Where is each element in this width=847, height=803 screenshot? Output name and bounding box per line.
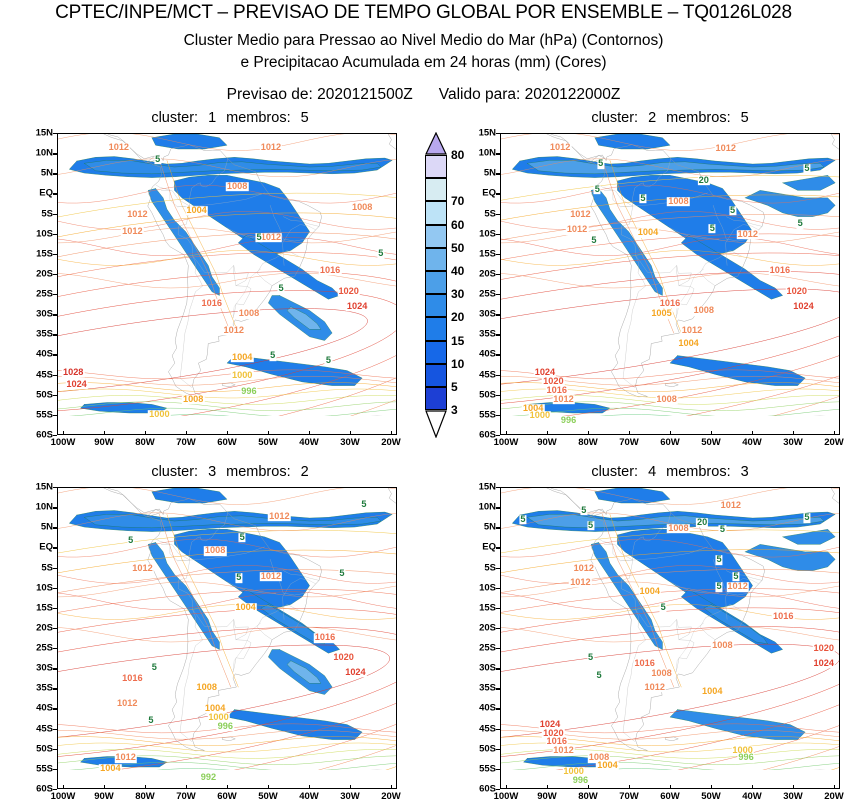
- x-axis-tick-label: 70W: [176, 791, 196, 802]
- y-axis-tick: [53, 274, 57, 275]
- subtitle-line-2: e Precipitacao Acumulada em 24 horas (mm…: [0, 54, 847, 72]
- contour-label: 1004: [677, 339, 699, 349]
- y-axis-tick: [496, 487, 500, 488]
- contour-label: 5: [127, 536, 134, 546]
- x-axis-tick-label: 80W: [135, 791, 155, 802]
- colorbar-tick-label: 50: [451, 241, 464, 255]
- y-axis-tick: [496, 769, 500, 770]
- cluster-label: cluster:: [151, 464, 198, 480]
- y-axis-tick-label: 55S: [464, 763, 496, 774]
- y-axis-tick: [53, 729, 57, 730]
- contour-label: 1000: [529, 411, 551, 421]
- colorbar-segment[interactable]: [425, 317, 447, 340]
- y-axis-tick: [53, 769, 57, 770]
- contour-label: 1008: [693, 306, 715, 316]
- y-axis-tick-label: EQ: [21, 542, 53, 553]
- y-axis-tick: [496, 153, 500, 154]
- y-axis-tick: [496, 729, 500, 730]
- x-axis-tick-label: 30W: [340, 437, 360, 448]
- contour-label: 1020: [813, 644, 835, 654]
- contour-label: 1012: [644, 683, 666, 693]
- contour-label: 1004: [234, 603, 256, 613]
- contour-label: 5: [595, 671, 602, 681]
- contour-label: 1008: [711, 641, 733, 651]
- y-axis-tick: [496, 395, 500, 396]
- contour-label: 5: [709, 224, 716, 234]
- colorbar-segment[interactable]: [425, 225, 447, 248]
- contour-label: 1012: [260, 572, 282, 582]
- y-axis-tick: [496, 334, 500, 335]
- contour-label: 5: [587, 521, 594, 531]
- y-axis-tick-label: 5S: [21, 208, 53, 219]
- contour-label: 1012: [573, 564, 595, 574]
- x-axis-tick-label: 40W: [742, 437, 762, 448]
- contour-label: 5: [147, 716, 154, 726]
- x-axis-tick-label: 70W: [176, 437, 196, 448]
- x-axis-tick-label: 80W: [578, 437, 598, 448]
- map-panel-cluster-2[interactable]: 1012101220100810121012101210041016102010…: [500, 133, 840, 435]
- colorbar-tick-label: 40: [451, 264, 464, 278]
- x-axis-tick-label: 20W: [824, 791, 844, 802]
- contour-label: 1012: [223, 326, 245, 336]
- contour-label: 1012: [569, 578, 591, 588]
- y-axis-tick-label: 60S: [21, 430, 53, 441]
- x-axis-tick: [268, 431, 269, 435]
- y-axis-tick-label: 50S: [464, 743, 496, 754]
- y-axis-tick-label: 35S: [21, 329, 53, 340]
- colorbar-over-arrow: [425, 132, 447, 155]
- contour-label: 1012: [108, 143, 130, 153]
- y-axis-tick: [496, 415, 500, 416]
- y-axis-tick: [496, 588, 500, 589]
- cluster-value: 4: [648, 464, 656, 480]
- colorbar-segment[interactable]: [425, 201, 447, 224]
- contour-label: 1012: [569, 210, 591, 220]
- cluster-label: cluster:: [151, 110, 198, 126]
- contour-label: 1016: [201, 299, 223, 309]
- x-axis-tick-label: 30W: [783, 437, 803, 448]
- x-axis-tick-label: 60W: [660, 791, 680, 802]
- y-axis-tick-label: 35S: [21, 683, 53, 694]
- x-axis-tick: [104, 785, 105, 789]
- y-axis-tick-label: 10N: [464, 502, 496, 513]
- colorbar-tick-label: 10: [451, 357, 464, 371]
- contour-label: 5: [597, 159, 604, 169]
- y-axis-tick-label: 45S: [21, 723, 53, 734]
- contour-label: 5: [151, 663, 158, 673]
- x-axis-tick-label: 20W: [381, 791, 401, 802]
- y-axis-tick: [496, 688, 500, 689]
- y-axis-tick: [496, 648, 500, 649]
- y-axis-tick: [53, 395, 57, 396]
- y-axis-tick: [53, 527, 57, 528]
- contour-label: 5: [154, 155, 161, 165]
- x-axis-tick: [309, 785, 310, 789]
- x-axis-tick-label: 50W: [258, 791, 278, 802]
- x-axis-tick-label: 50W: [701, 791, 721, 802]
- contour-label: 1024: [346, 302, 368, 312]
- y-axis-tick: [496, 133, 500, 134]
- x-axis-tick: [268, 785, 269, 789]
- x-axis-tick-label: 70W: [619, 791, 639, 802]
- y-axis-tick: [496, 274, 500, 275]
- contour-label: 1024: [792, 302, 814, 312]
- y-axis-tick-label: 5N: [464, 522, 496, 533]
- x-axis-tick-label: 60W: [217, 437, 237, 448]
- y-axis-tick-label: 10S: [21, 582, 53, 593]
- colorbar-under-arrow: [425, 410, 447, 438]
- contour-label: 996: [572, 776, 589, 786]
- contour-label: 1024: [813, 659, 835, 669]
- contour-label: 5: [587, 653, 594, 663]
- colorbar-tick-label: 60: [451, 218, 464, 232]
- contour-label: 996: [217, 722, 234, 732]
- x-axis-tick: [104, 431, 105, 435]
- contour-label: 5: [732, 572, 739, 582]
- contour-label: 1024: [65, 380, 87, 390]
- y-axis-tick: [496, 568, 500, 569]
- x-axis-tick: [670, 785, 671, 789]
- x-axis-tick: [227, 431, 228, 435]
- x-axis-tick-label: 20W: [381, 437, 401, 448]
- contour-label: 5: [660, 603, 667, 613]
- x-axis-tick: [506, 431, 507, 435]
- contour-label: 1008: [667, 197, 689, 207]
- contour-label: 1008: [650, 669, 672, 679]
- contour-label: 1008: [667, 524, 689, 534]
- contour-label: 996: [240, 387, 257, 397]
- precipitation-colorbar[interactable]: 35101520304050607080: [425, 132, 485, 440]
- panel-4-title: cluster:4membros:3: [500, 464, 840, 480]
- x-axis-tick: [711, 785, 712, 789]
- x-axis-tick-label: 100W: [494, 791, 519, 802]
- y-axis-tick: [496, 354, 500, 355]
- y-axis-tick-label: 5N: [21, 522, 53, 533]
- x-axis-tick: [834, 785, 835, 789]
- contour-label: 5: [278, 284, 285, 294]
- x-axis-tick: [391, 431, 392, 435]
- contour-label: 1012: [549, 143, 571, 153]
- y-axis-tick: [53, 547, 57, 548]
- y-axis-tick-label: 20S: [21, 622, 53, 633]
- x-axis-tick-label: 40W: [742, 791, 762, 802]
- x-axis-tick: [834, 431, 835, 435]
- x-axis-tick-label: 100W: [51, 437, 76, 448]
- colorbar-segment[interactable]: [425, 341, 447, 364]
- x-axis-tick: [145, 785, 146, 789]
- colorbar-tick-label: 70: [451, 194, 464, 208]
- y-axis-tick-label: 55S: [21, 409, 53, 420]
- contour-label: 1016: [659, 299, 681, 309]
- x-axis-tick-label: 70W: [619, 437, 639, 448]
- x-axis-tick: [309, 431, 310, 435]
- contour-label: 996: [560, 416, 577, 426]
- y-axis-tick-label: 10N: [21, 502, 53, 513]
- x-axis-tick-label: 40W: [299, 791, 319, 802]
- y-axis-tick-label: 40S: [21, 349, 53, 360]
- y-axis-tick-label: 25S: [464, 643, 496, 654]
- colorbar-segment[interactable]: [425, 294, 447, 317]
- x-axis-tick: [793, 785, 794, 789]
- y-axis-tick: [496, 547, 500, 548]
- y-axis-tick-label: 10S: [464, 582, 496, 593]
- x-axis-tick: [391, 785, 392, 789]
- contour-label: 1012: [260, 233, 282, 243]
- contour-label: 1012: [552, 746, 574, 756]
- contour-label: 1012: [260, 143, 282, 153]
- contour-label: 1020: [332, 653, 354, 663]
- contour-label: 1000: [148, 410, 170, 420]
- y-axis-tick: [496, 214, 500, 215]
- x-axis-tick: [588, 431, 589, 435]
- y-axis-tick: [53, 648, 57, 649]
- contour-label: 1012: [737, 230, 759, 240]
- y-axis-tick-label: 60S: [464, 784, 496, 795]
- contour-label: 1008: [238, 309, 260, 319]
- contour-label: 1016: [769, 266, 791, 276]
- x-axis-tick: [63, 431, 64, 435]
- contour-label: 1012: [126, 210, 148, 220]
- y-axis-tick: [53, 334, 57, 335]
- y-axis-tick-label: 50S: [21, 743, 53, 754]
- y-axis-tick-label: EQ: [464, 542, 496, 553]
- contour-label: 5: [803, 164, 810, 174]
- x-axis-tick: [145, 431, 146, 435]
- colorbar-tick-label: 5: [451, 380, 458, 394]
- y-axis-tick: [53, 507, 57, 508]
- y-axis-tick: [496, 314, 500, 315]
- x-axis-tick: [63, 785, 64, 789]
- colorbar-tick-label: 20: [451, 310, 464, 324]
- contour-label: 1004: [638, 587, 660, 597]
- y-axis-tick-label: 45S: [21, 369, 53, 380]
- contour-label: 1012: [720, 501, 742, 511]
- y-axis-tick: [53, 193, 57, 194]
- contour-label: 5: [590, 236, 597, 246]
- contour-label: 1008: [195, 683, 217, 693]
- y-axis-tick: [53, 133, 57, 134]
- y-axis-tick: [496, 507, 500, 508]
- contour-label: 1004: [637, 228, 659, 238]
- y-axis-tick: [53, 668, 57, 669]
- contour-label: 5: [256, 233, 263, 243]
- contour-label: 1008: [226, 182, 248, 192]
- membros-value: 2: [301, 464, 309, 480]
- colorbar-segment[interactable]: [425, 271, 447, 294]
- contour-label: 1028: [62, 368, 84, 378]
- x-axis-tick: [186, 785, 187, 789]
- colorbar-segment[interactable]: [425, 248, 447, 271]
- page-title: CPTEC/INPE/MCT – PREVISAO DE TEMPO GLOBA…: [0, 2, 847, 24]
- contour-label: 1004: [99, 764, 121, 774]
- forecast-chart-page: CPTEC/INPE/MCT – PREVISAO DE TEMPO GLOBA…: [0, 0, 847, 803]
- y-axis-tick: [53, 415, 57, 416]
- panel-3-title: cluster:3membros:2: [60, 464, 400, 480]
- contour-label: 5: [338, 569, 345, 579]
- membros-value: 5: [301, 110, 309, 126]
- y-axis-tick-label: EQ: [21, 188, 53, 199]
- contour-label: 1016: [772, 612, 794, 622]
- contour-label: 1012: [114, 753, 136, 763]
- membros-value: 5: [741, 110, 749, 126]
- y-axis-tick: [496, 375, 500, 376]
- x-axis-tick-label: 30W: [783, 791, 803, 802]
- y-axis-tick: [53, 588, 57, 589]
- x-axis-tick-label: 100W: [494, 437, 519, 448]
- x-axis-tick-label: 60W: [217, 791, 237, 802]
- x-axis-tick-label: 20W: [824, 437, 844, 448]
- y-axis-tick: [496, 234, 500, 235]
- contour-label: 1016: [319, 266, 341, 276]
- map-panel-cluster-3[interactable]: 1012100810121012100410161020102410161008…: [57, 487, 397, 789]
- y-axis-tick: [496, 193, 500, 194]
- y-axis-tick-label: 55S: [21, 763, 53, 774]
- y-axis-tick-label: 5N: [21, 168, 53, 179]
- x-axis-tick: [506, 785, 507, 789]
- y-axis-tick: [53, 254, 57, 255]
- contour-label: 5: [729, 206, 736, 216]
- y-axis-tick: [496, 668, 500, 669]
- y-axis-tick: [53, 173, 57, 174]
- subtitle-line-1: Cluster Medio para Pressao ao Nivel Medi…: [0, 32, 847, 50]
- x-axis-tick: [350, 431, 351, 435]
- contour-label: 1005: [650, 309, 672, 319]
- panel-2-title: cluster:2membros:5: [500, 110, 840, 126]
- contour-label: 1012: [131, 564, 153, 574]
- x-axis-tick-label: 50W: [701, 437, 721, 448]
- contour-label: 992: [200, 773, 217, 783]
- contour-label: 5: [377, 249, 384, 259]
- colorbar-tick-label: 3: [451, 403, 458, 417]
- y-axis-tick: [53, 234, 57, 235]
- y-axis-tick-label: 20S: [464, 622, 496, 633]
- y-axis-tick-label: 15S: [21, 602, 53, 613]
- x-axis-tick-label: 90W: [537, 437, 557, 448]
- x-axis-tick-label: 40W: [299, 437, 319, 448]
- y-axis-tick: [496, 708, 500, 709]
- y-axis-tick-label: 25S: [21, 289, 53, 300]
- x-axis-tick: [350, 785, 351, 789]
- colorbar-segment[interactable]: [425, 364, 447, 387]
- y-axis-tick: [496, 749, 500, 750]
- colorbar-segment[interactable]: [425, 178, 447, 201]
- contour-label: 1004: [596, 761, 618, 771]
- colorbar-segment[interactable]: [425, 387, 447, 410]
- y-axis-tick: [53, 708, 57, 709]
- contour-label: 1024: [344, 668, 366, 678]
- x-axis-tick: [793, 431, 794, 435]
- cluster-value: 3: [208, 464, 216, 480]
- map-panel-cluster-4[interactable]: 1012201008101210121012100410161020102410…: [500, 487, 840, 789]
- y-axis-tick-label: 30S: [21, 309, 53, 320]
- y-axis-tick: [53, 354, 57, 355]
- x-axis-tick: [588, 785, 589, 789]
- panel-1-title: cluster:1membros:5: [60, 110, 400, 126]
- y-axis-tick-label: 5S: [464, 562, 496, 573]
- y-axis-tick: [53, 314, 57, 315]
- contour-label: 5: [269, 351, 276, 361]
- contour-label: 996: [737, 753, 754, 763]
- contour-label: 1012: [116, 699, 138, 709]
- y-axis-tick: [53, 749, 57, 750]
- contour-label: 1012: [715, 144, 737, 154]
- contour-label: 5: [580, 506, 587, 516]
- y-axis-tick: [53, 688, 57, 689]
- x-axis-tick: [629, 785, 630, 789]
- y-axis-tick-label: 10S: [21, 228, 53, 239]
- y-axis-tick: [496, 294, 500, 295]
- x-axis-tick: [227, 785, 228, 789]
- x-axis-tick-label: 90W: [94, 791, 114, 802]
- contour-label: 1020: [786, 287, 808, 297]
- contour-label: 5: [715, 555, 722, 565]
- contour-label: 1012: [268, 512, 290, 522]
- colorbar-tick-label: 15: [451, 334, 464, 348]
- contour-label: 1008: [351, 203, 373, 213]
- colorbar-segment[interactable]: [425, 155, 447, 178]
- contour-label: 5: [715, 582, 722, 592]
- colorbar-tick-label-max: 80: [451, 148, 464, 162]
- membros-label: membros:: [666, 464, 730, 480]
- x-axis-tick-label: 50W: [258, 437, 278, 448]
- contour-label: 1004: [231, 353, 253, 363]
- contour-label: 1012: [552, 395, 574, 405]
- map-panel-cluster-1[interactable]: 1012101210081008101210041012101210161020…: [57, 133, 397, 435]
- forecast-init-label: Previsao de: 2020121500Z: [227, 86, 413, 103]
- y-axis-tick-label: 15S: [21, 248, 53, 259]
- contour-label: 1004: [185, 206, 207, 216]
- contour-label: 1008: [182, 395, 204, 405]
- y-axis-tick-label: 10N: [21, 148, 53, 159]
- y-axis-tick: [53, 568, 57, 569]
- contour-label: 5: [239, 533, 246, 543]
- y-axis-tick: [53, 487, 57, 488]
- y-axis-tick-label: 20S: [21, 268, 53, 279]
- contour-label: 5: [235, 573, 242, 583]
- membros-label: membros:: [666, 110, 730, 126]
- y-axis-tick: [496, 628, 500, 629]
- y-axis-tick: [496, 527, 500, 528]
- cluster-value: 1: [208, 110, 216, 126]
- contour-label: 1008: [655, 395, 677, 405]
- y-axis-tick: [53, 214, 57, 215]
- y-axis-tick: [53, 153, 57, 154]
- y-axis-tick: [53, 294, 57, 295]
- x-axis-tick-label: 60W: [660, 437, 680, 448]
- y-axis-tick-label: 40S: [21, 703, 53, 714]
- membros-label: membros:: [226, 464, 290, 480]
- contour-label: 20: [698, 176, 710, 186]
- y-axis-tick-label: 30S: [21, 663, 53, 674]
- colorbar-tick-label: 30: [451, 287, 464, 301]
- contour-label: 1004: [701, 687, 723, 697]
- contour-label: 1016: [121, 674, 143, 684]
- y-axis-tick-label: 15N: [21, 128, 53, 139]
- contour-label: 5: [519, 515, 526, 525]
- y-axis-tick: [496, 608, 500, 609]
- x-axis-tick-label: 100W: [51, 791, 76, 802]
- x-axis-tick: [752, 431, 753, 435]
- y-axis-tick-label: 50S: [21, 389, 53, 400]
- contour-label: 1012: [726, 582, 748, 592]
- membros-label: membros:: [226, 110, 290, 126]
- y-axis-tick-label: 5S: [21, 562, 53, 573]
- contour-label: 1000: [231, 371, 253, 381]
- y-axis-tick: [53, 628, 57, 629]
- y-axis-tick-label: 15N: [21, 482, 53, 493]
- y-axis-tick: [496, 254, 500, 255]
- y-axis-tick-label: 15S: [464, 602, 496, 613]
